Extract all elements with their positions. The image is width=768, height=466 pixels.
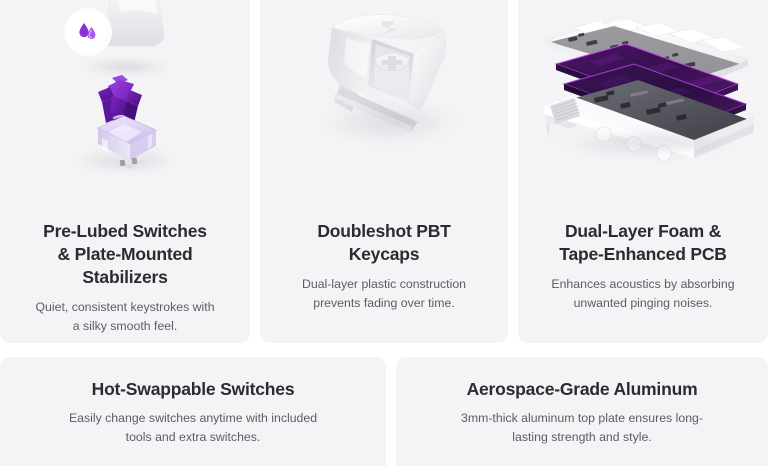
- exploded-keyboard-illustration: [534, 6, 760, 158]
- feature-description-line: Enhances acoustics by absorbing: [532, 275, 754, 293]
- feature-card-aerospace-grade-aluminum[interactable]: Aerospace-Grade Aluminum 3mm-thick alumi…: [396, 357, 768, 466]
- feature-title-line: Tape-Enhanced PCB: [532, 243, 754, 266]
- feature-title: Dual-Layer Foam & Tape-Enhanced PCB: [532, 220, 754, 266]
- feature-description-line: Dual-layer plastic construction: [274, 275, 494, 293]
- mechanical-switch-icon: [68, 66, 180, 174]
- feature-title-line: Hot-Swappable Switches: [14, 378, 372, 401]
- feature-description-line: a silky smooth feel.: [14, 317, 236, 335]
- feature-grid-page: Pre-Lubed Switches & Plate-Mounted Stabi…: [0, 0, 768, 466]
- feature-title-line: Stabilizers: [14, 266, 236, 289]
- droplet-icon: [75, 19, 101, 45]
- feature-description-line: Quiet, consistent keystrokes with: [14, 298, 236, 316]
- lubricant-droplet-badge: [64, 8, 112, 56]
- feature-description-line: tools and extra switches.: [14, 428, 372, 446]
- feature-description-line: 3mm-thick aluminum top plate ensures lon…: [410, 409, 754, 427]
- feature-text-block: Hot-Swappable Switches Easily change swi…: [0, 357, 386, 446]
- feature-description-line: unwanted pinging noises.: [532, 294, 754, 312]
- feature-text-block: Dual-Layer Foam & Tape-Enhanced PCB Enha…: [518, 220, 768, 312]
- feature-title-line: Dual-Layer Foam &: [532, 220, 754, 243]
- keycap-cutaway-shadow: [320, 102, 460, 142]
- feature-title-line: Keycaps: [274, 243, 494, 266]
- feature-description-line: Easily change switches anytime with incl…: [14, 409, 372, 427]
- feature-image-pre-lubed-switches: [0, 0, 250, 206]
- feature-title-line: Pre-Lubed Switches: [14, 220, 236, 243]
- feature-title-line: Aerospace-Grade Aluminum: [410, 378, 754, 401]
- feature-description: 3mm-thick aluminum top plate ensures lon…: [410, 409, 754, 446]
- feature-card-doubleshot-pbt-keycaps[interactable]: Doubleshot PBT Keycaps Dual-layer plasti…: [260, 0, 508, 343]
- feature-card-pre-lubed-switches[interactable]: Pre-Lubed Switches & Plate-Mounted Stabi…: [0, 0, 250, 343]
- feature-text-block: Doubleshot PBT Keycaps Dual-layer plasti…: [260, 220, 508, 312]
- feature-title: Aerospace-Grade Aluminum: [410, 378, 754, 401]
- feature-text-block: Pre-Lubed Switches & Plate-Mounted Stabi…: [0, 220, 250, 335]
- feature-description-line: lasting strength and style.: [410, 428, 754, 446]
- feature-description-line: prevents fading over time.: [274, 294, 494, 312]
- feature-description: Enhances acoustics by absorbing unwanted…: [532, 275, 754, 312]
- feature-description: Dual-layer plastic construction prevents…: [274, 275, 494, 312]
- feature-image-doubleshot-pbt-keycaps: [260, 0, 508, 206]
- feature-description: Easily change switches anytime with incl…: [14, 409, 372, 446]
- feature-title-line: & Plate-Mounted: [14, 243, 236, 266]
- feature-description: Quiet, consistent keystrokes with a silk…: [14, 298, 236, 335]
- feature-title: Pre-Lubed Switches & Plate-Mounted Stabi…: [14, 220, 236, 289]
- feature-card-hot-swappable-switches[interactable]: Hot-Swappable Switches Easily change swi…: [0, 357, 386, 466]
- feature-title: Hot-Swappable Switches: [14, 378, 372, 401]
- feature-card-dual-layer-foam-tape-enhanced-pcb[interactable]: Dual-Layer Foam & Tape-Enhanced PCB Enha…: [518, 0, 768, 343]
- feature-title: Doubleshot PBT Keycaps: [274, 220, 494, 266]
- feature-title-line: Doubleshot PBT: [274, 220, 494, 243]
- exploded-keyboard-shadow: [560, 130, 736, 156]
- feature-image-dual-layer-foam-tape-enhanced-pcb: [518, 0, 768, 206]
- keycap-cutaway-illustration: [298, 0, 478, 154]
- feature-text-block: Aerospace-Grade Aluminum 3mm-thick alumi…: [396, 357, 768, 446]
